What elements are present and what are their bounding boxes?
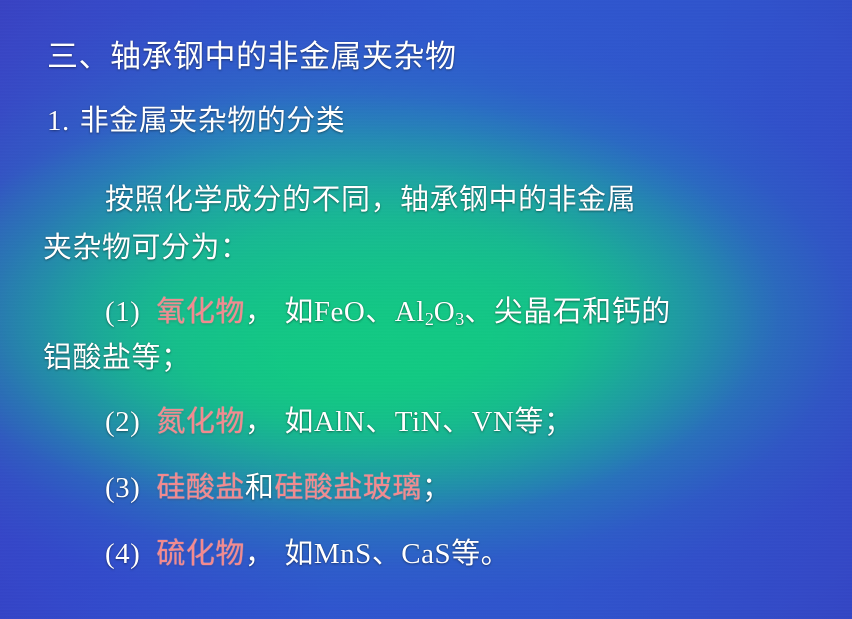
subsection-heading: 1.非金属夹杂物的分类: [47, 105, 345, 138]
list-item-3-highlight-a: 硅酸盐: [156, 470, 245, 504]
paragraph-line-2: 夹杂物可分为：: [43, 224, 250, 266]
list-item-3-tail: ；: [422, 470, 452, 504]
list-item-3: (3)硅酸盐和硅酸盐玻璃；: [105, 464, 451, 506]
presentation-slide: 三、轴承钢中的非金属夹杂物 1.非金属夹杂物的分类 按照化学成分的不同，轴承钢中…: [0, 0, 852, 619]
list-item-4: (4)硫化物，如MnS、CaS等。: [105, 530, 510, 572]
list-item-1-formula-a: 如FeO、Al: [284, 296, 424, 328]
list-item-2-tail: 等；: [514, 404, 573, 438]
list-item-2: (2)氮化物，如AlN、TiN、VN等；: [105, 398, 573, 440]
subsection-title: 非金属夹杂物的分类: [80, 103, 346, 137]
list-item-2-formula: 如AlN、TiN、VN: [284, 406, 514, 438]
paragraph-line-1: 按照化学成分的不同，轴承钢中的非金属: [47, 176, 636, 218]
list-item-4-marker: (4): [105, 538, 140, 570]
list-item-1-line-2: 铝酸盐等；: [43, 334, 191, 376]
list-item-2-highlight: 氮化物: [156, 404, 245, 438]
list-item-3-conjunction: 和: [245, 470, 275, 504]
paragraph-line-1-text: 按照化学成分的不同，轴承钢中的非金属: [105, 182, 636, 216]
list-item-4-formula: 如MnS、CaS: [284, 538, 451, 570]
list-item-1-tail: 、尖晶石和钙的: [464, 294, 671, 328]
list-item-3-marker: (3): [105, 472, 140, 504]
list-item-2-marker: (2): [105, 406, 140, 438]
list-item-1-line-1: (1)氧化物，如FeO、Al2O3、尖晶石和钙的: [105, 288, 671, 330]
list-item-4-comma: ，: [245, 536, 275, 570]
slide-content: 三、轴承钢中的非金属夹杂物 1.非金属夹杂物的分类 按照化学成分的不同，轴承钢中…: [0, 0, 852, 619]
list-item-3-highlight-b: 硅酸盐玻璃: [274, 470, 422, 504]
list-item-2-comma: ，: [245, 404, 275, 438]
list-item-1-formula-b: O: [434, 296, 455, 328]
list-item-4-tail: 等。: [451, 536, 510, 570]
list-item-1-subscript-2: 3: [455, 309, 464, 329]
list-item-1-comma: ，: [245, 294, 275, 328]
list-item-4-highlight: 硫化物: [156, 536, 245, 570]
list-item-1-subscript-1: 2: [425, 309, 434, 329]
subsection-number: 1.: [47, 105, 70, 137]
list-item-1-marker: (1): [105, 296, 140, 328]
list-item-1-highlight: 氧化物: [156, 294, 245, 328]
section-heading: 三、轴承钢中的非金属夹杂物: [47, 40, 457, 74]
